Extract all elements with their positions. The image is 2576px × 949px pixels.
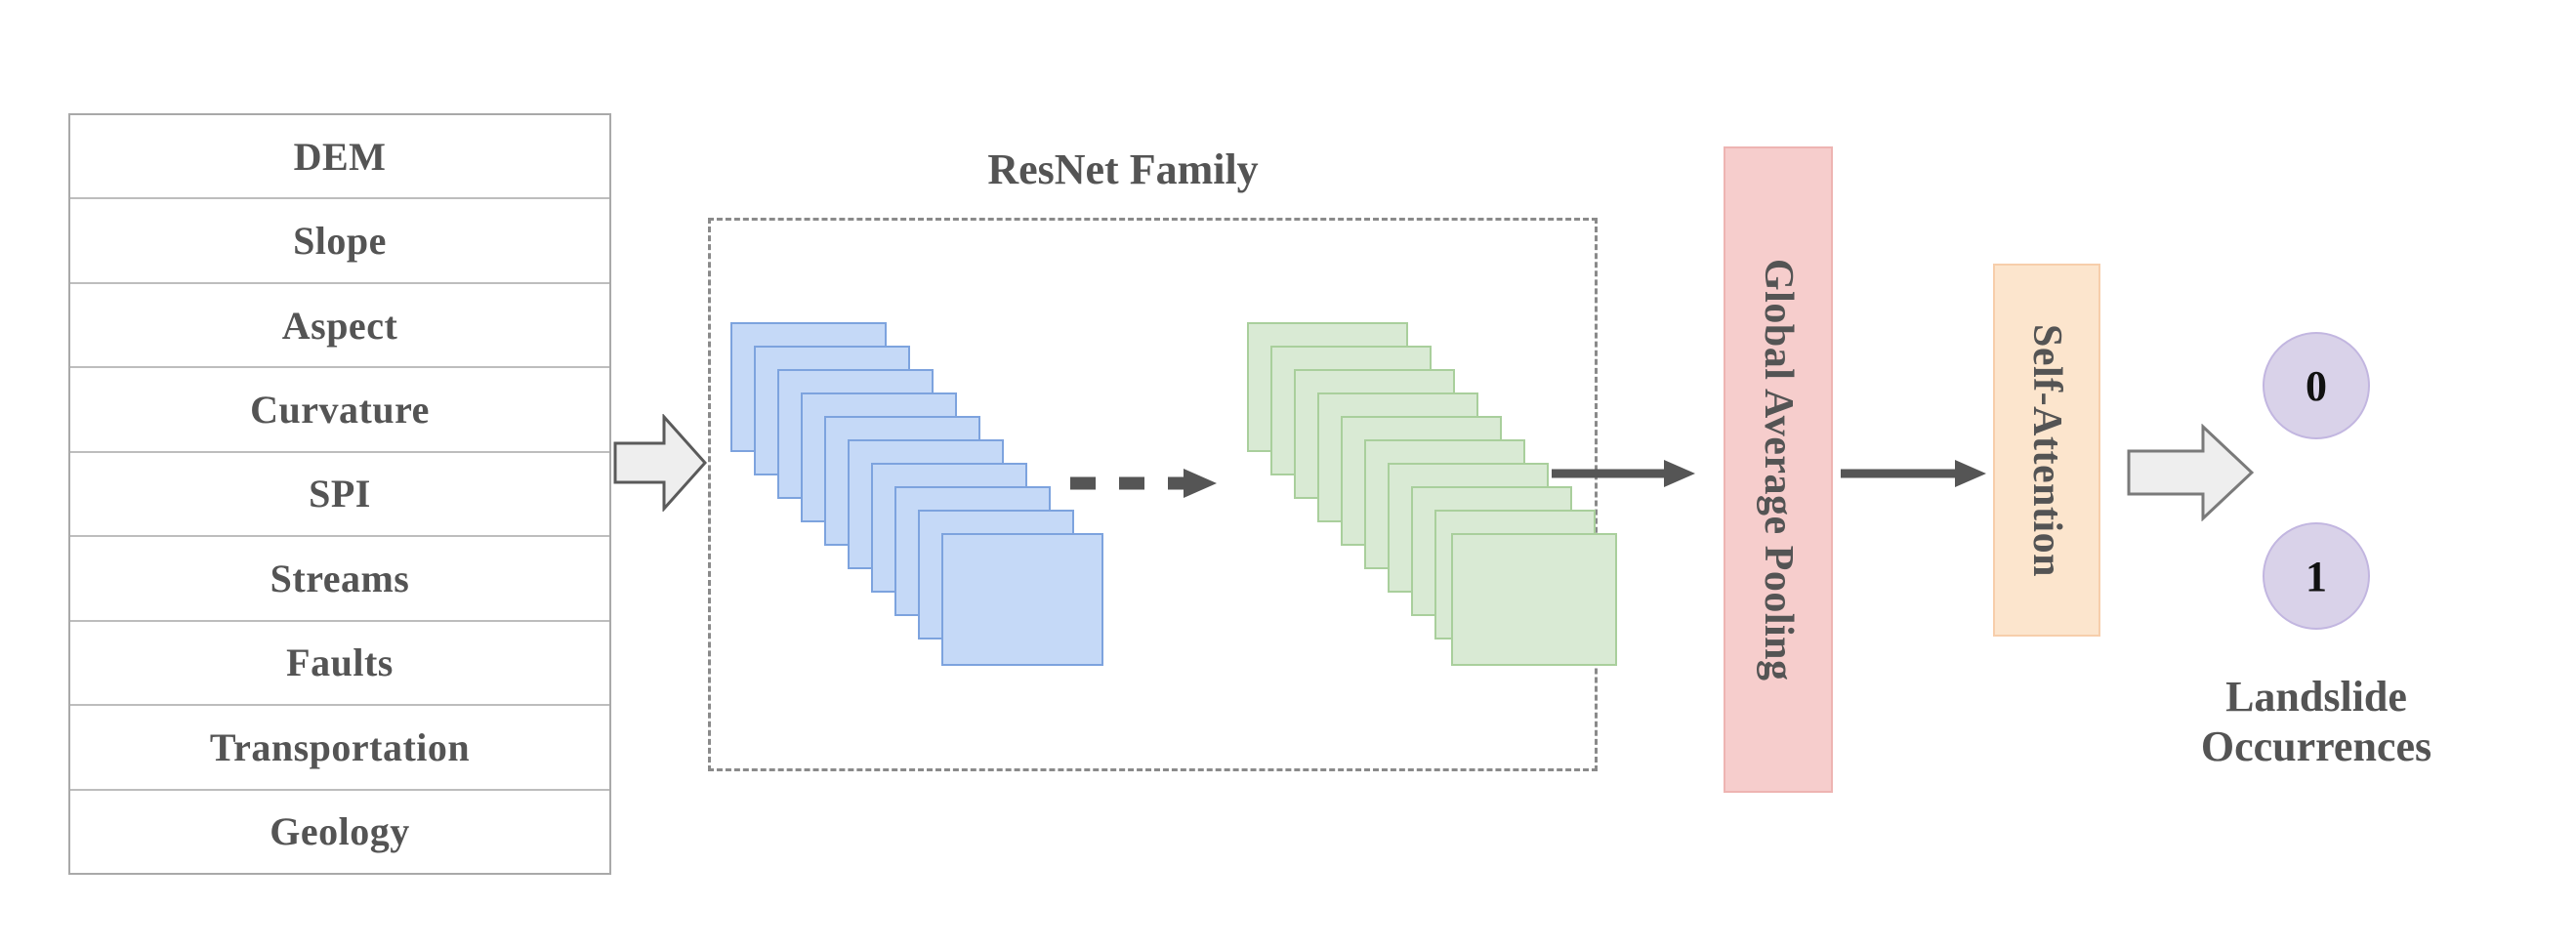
factor-label: DEM: [294, 134, 387, 180]
conv-stack-blue: [730, 322, 1141, 713]
output-class-circle: 0: [2263, 332, 2370, 439]
factor-label: Streams: [270, 556, 410, 601]
self-attention-block: Self-Attention: [1993, 264, 2100, 637]
dashed-arrow-icon: [1068, 467, 1225, 500]
factor-label: SPI: [309, 471, 371, 516]
output-class-circle: 1: [2263, 522, 2370, 630]
factor-label: Transportation: [210, 724, 470, 770]
factor-label: Curvature: [250, 387, 430, 433]
block-arrow-right-icon: [613, 414, 707, 512]
block-arrow-right-icon: [2127, 424, 2254, 521]
table-row: Geology: [70, 791, 609, 873]
conditioning-factor-table: DEM Slope Aspect Curvature SPI Streams F…: [68, 113, 611, 875]
arrow-right-icon: [1840, 457, 1988, 490]
table-row: Curvature: [70, 368, 609, 452]
output-caption-line: Landslide: [2160, 672, 2472, 722]
factor-label: Geology: [270, 808, 409, 854]
table-row: Streams: [70, 537, 609, 621]
conv-stack-green: [1247, 322, 1657, 713]
global-average-pooling-block: Global Average Pooling: [1724, 146, 1833, 793]
backbone-title: ResNet Family: [957, 144, 1289, 194]
factor-label: Slope: [293, 218, 387, 264]
output-caption-line: Occurrences: [2160, 722, 2472, 771]
table-row: Transportation: [70, 706, 609, 790]
factor-label: Aspect: [282, 303, 398, 349]
block-label: Global Average Pooling: [1755, 259, 1802, 681]
table-row: DEM: [70, 115, 609, 199]
table-row: SPI: [70, 453, 609, 537]
output-class-label: 1: [2306, 552, 2327, 601]
table-row: Slope: [70, 199, 609, 283]
output-caption: Landslide Occurrences: [2160, 672, 2472, 771]
output-class-label: 0: [2306, 361, 2327, 411]
block-label: Self-Attention: [2023, 324, 2070, 577]
stack-card: [1451, 533, 1617, 666]
table-row: Faults: [70, 622, 609, 706]
diagram-canvas: DEM Slope Aspect Curvature SPI Streams F…: [0, 0, 2576, 949]
factor-label: Faults: [286, 640, 394, 685]
arrow-right-icon: [1551, 457, 1697, 490]
table-row: Aspect: [70, 284, 609, 368]
stack-card: [941, 533, 1103, 666]
